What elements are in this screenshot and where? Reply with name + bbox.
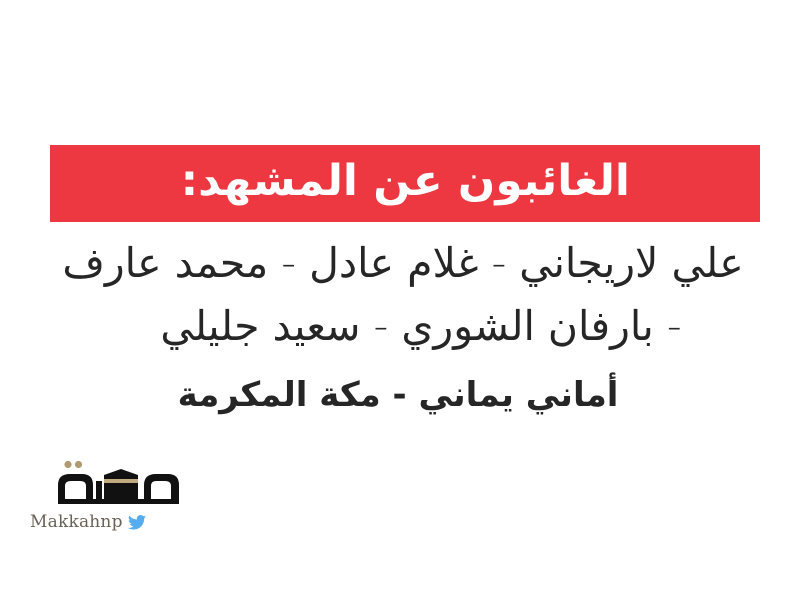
wordmark-dot-left [75,461,82,468]
wordmark-dot-right [64,461,71,468]
kaaba-icon [104,469,138,503]
headline-banner: الغائبون عن المشهد: [50,145,760,222]
kaaba-band [104,479,138,483]
twitter-bird-icon [128,515,146,530]
body-line-1: علي لاريجاني - غلام عادل - محمد عارف [40,232,766,295]
body-line-3: أماني يماني - مكة المكرمة [40,369,766,421]
makkah-wordmark-svg [52,455,182,507]
twitter-handle-text: Makkahnp [30,514,123,531]
news-card: الغائبون عن المشهد: علي لاريجاني - غلام … [0,0,800,600]
twitter-handle-row[interactable]: Makkahnp [30,511,146,533]
kaaba-roof [104,469,138,479]
headline-text: الغائبون عن المشهد: [180,160,629,207]
brand-logo: Makkahnp [22,455,182,540]
wordmark-glyph-mim [144,474,179,503]
makkah-wordmark [52,455,182,507]
body-line-2: - بارفان الشوري - سعيد جليلي [40,295,766,358]
wordmark-glyph-kaf [96,481,102,503]
wordmark-baseline [58,499,179,504]
body-text-block: علي لاريجاني - غلام عادل - محمد عارف - ب… [40,232,766,421]
